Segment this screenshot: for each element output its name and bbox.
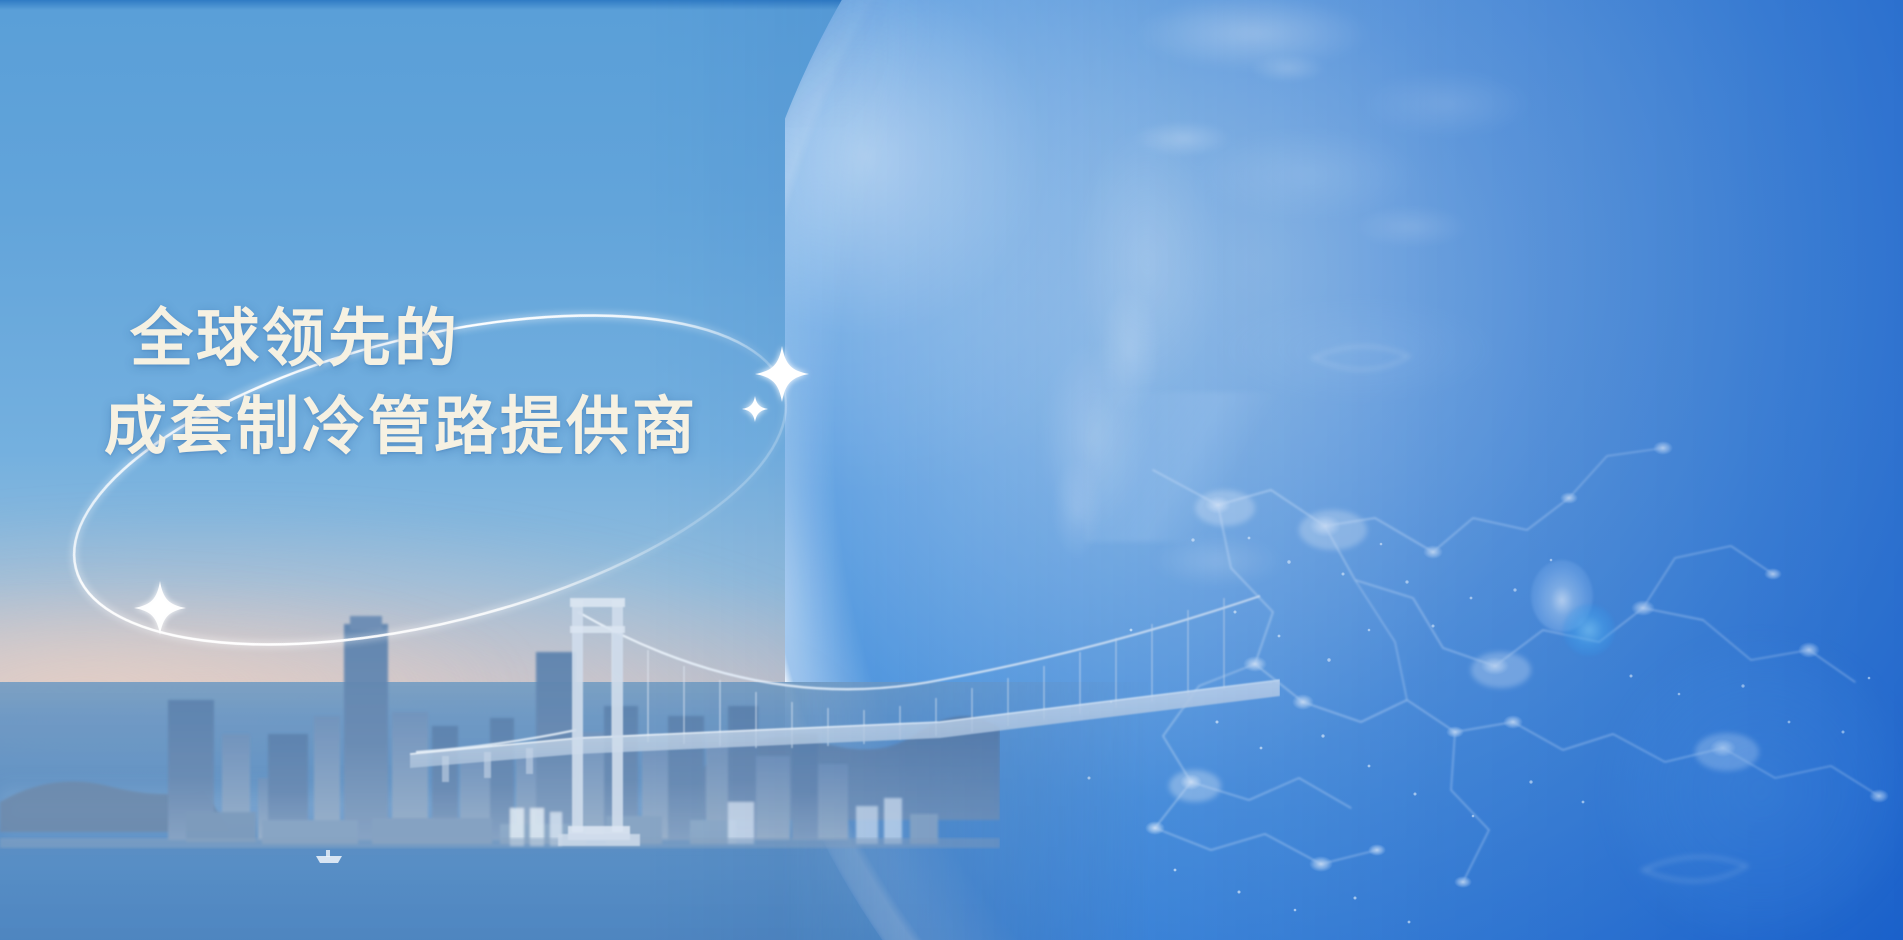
headline: 全球领先的 成套制冷管路提供商	[104, 303, 744, 464]
headline-line-1: 全球领先的	[130, 303, 744, 376]
color-veil	[0, 0, 1903, 940]
headline-line-2: 成套制冷管路提供商	[104, 391, 744, 464]
hero-banner: 全球领先的 成套制冷管路提供商	[0, 0, 1903, 940]
